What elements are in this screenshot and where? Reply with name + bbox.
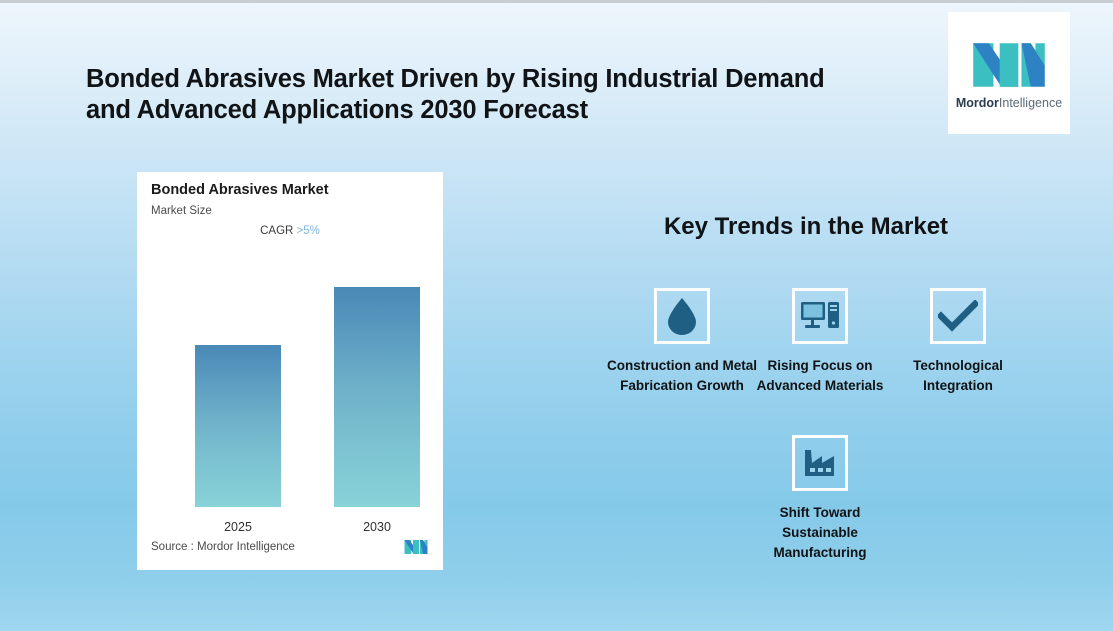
cagr-label: CAGR — [260, 225, 293, 237]
trend-label: Technological Integration — [883, 356, 1033, 396]
trend-item-advanced-materials: Rising Focus on Advanced Materials — [745, 288, 895, 396]
chart-source-text: Source : Mordor Intelligence — [151, 541, 295, 553]
factory-icon — [801, 447, 839, 479]
chart-title: Bonded Abrasives Market — [151, 182, 329, 198]
trend-icon-box — [930, 288, 986, 344]
brand-name-bold: Mordor — [956, 96, 999, 110]
cagr-value: >5% — [297, 225, 320, 237]
top-divider — [0, 0, 1113, 3]
bar-column-2030 — [334, 262, 420, 507]
trend-icon-box — [792, 435, 848, 491]
brand-logo-wordmark: MordorIntelligence — [956, 97, 1062, 110]
bar-2030 — [334, 287, 420, 508]
bar-label-2025: 2025 — [195, 520, 281, 534]
market-size-chart-card: Bonded Abrasives Market Market Size CAGR… — [137, 172, 443, 570]
bar-label-2030: 2030 — [334, 520, 420, 534]
mi-monogram-icon — [970, 37, 1048, 93]
trend-label: Shift Toward Sustainable Manufacturing — [745, 503, 895, 563]
chart-source-name: Mordor Intelligence — [197, 541, 295, 553]
desktop-computer-icon — [800, 299, 840, 333]
bar-2025 — [195, 345, 281, 507]
trend-icon-box — [654, 288, 710, 344]
mi-monogram-icon — [403, 538, 429, 556]
key-trends-heading: Key Trends in the Market — [651, 213, 961, 241]
checkmark-icon — [938, 300, 978, 332]
trend-item-technological-integration: Technological Integration — [883, 288, 1033, 396]
trend-item-construction: Construction and Metal Fabrication Growt… — [607, 288, 757, 396]
brand-logo: MordorIntelligence — [948, 12, 1070, 134]
chart-source-label: Source : — [151, 541, 194, 553]
bar-column-2025 — [195, 262, 281, 507]
trend-icon-box — [792, 288, 848, 344]
water-drop-icon — [665, 297, 699, 335]
trend-label: Construction and Metal Fabrication Growt… — [607, 356, 757, 396]
bar-chart-plot-area: 2025 2030 — [151, 262, 429, 507]
chart-subtitle: Market Size — [151, 205, 212, 217]
chart-source-row: Source : Mordor Intelligence — [151, 538, 429, 556]
page-title: Bonded Abrasives Market Driven by Rising… — [86, 64, 876, 126]
cagr-annotation: CAGR >5% — [137, 225, 443, 237]
trend-label: Rising Focus on Advanced Materials — [745, 356, 895, 396]
brand-name-light: Intelligence — [999, 96, 1062, 110]
trend-item-sustainable-manufacturing: Shift Toward Sustainable Manufacturing — [745, 435, 895, 563]
